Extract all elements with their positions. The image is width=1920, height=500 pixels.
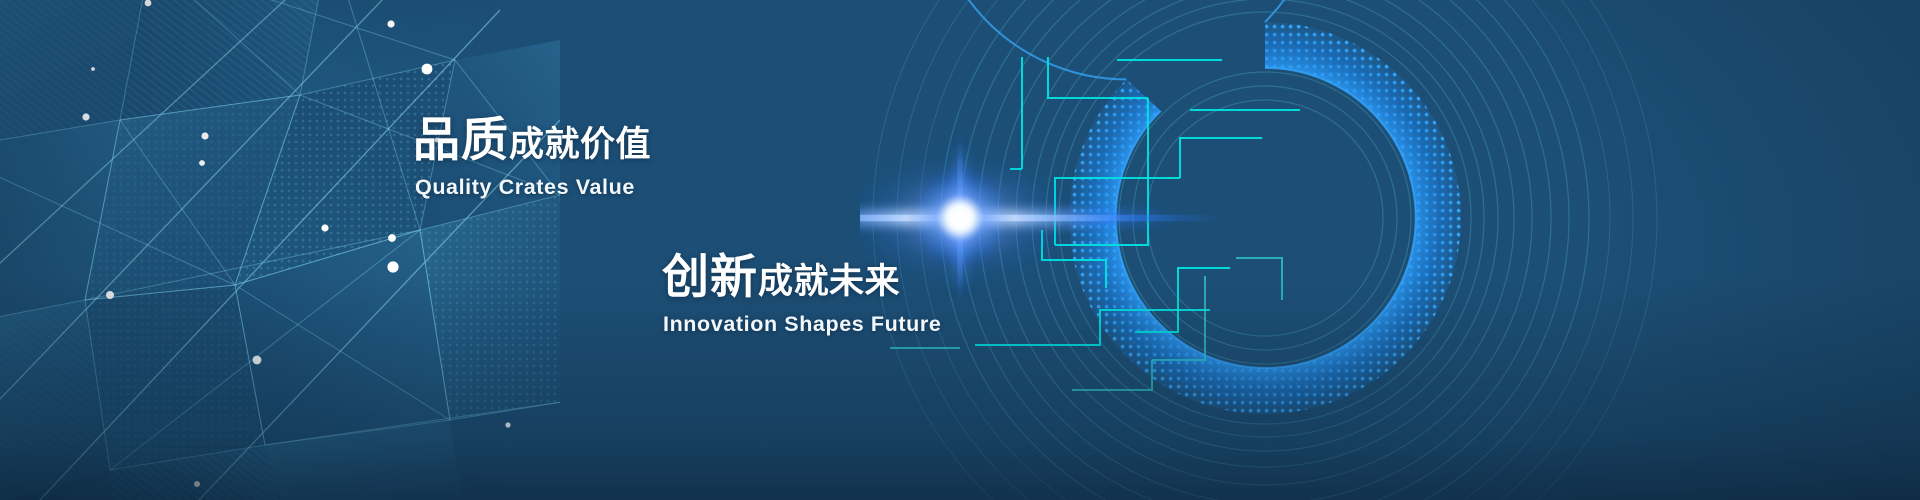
slogan-innovation-chinese: 创新成就未来 [662, 253, 941, 300]
slogan-quality-cn-strong: 品质 [413, 113, 509, 166]
slogan-quality-cn-rest: 成就价值 [509, 125, 651, 164]
slogan-innovation: 创新成就未来 Innovation Shapes Future [662, 253, 941, 336]
slogan-innovation-cn-strong: 创新 [662, 250, 758, 303]
slogan-quality-english: Quality Crates Value [415, 177, 651, 199]
slogan-innovation-cn-rest: 成就未来 [758, 262, 900, 301]
slogan-quality: 品质成就价值 Quality Crates Value [413, 116, 651, 199]
hero-banner: 品质成就价值 Quality Crates Value 创新成就未来 Innov… [0, 0, 1920, 500]
slogan-innovation-english: Innovation Shapes Future [663, 314, 941, 336]
slogan-quality-chinese: 品质成就价值 [413, 116, 651, 163]
bottom-shade-overlay [0, 0, 1920, 500]
